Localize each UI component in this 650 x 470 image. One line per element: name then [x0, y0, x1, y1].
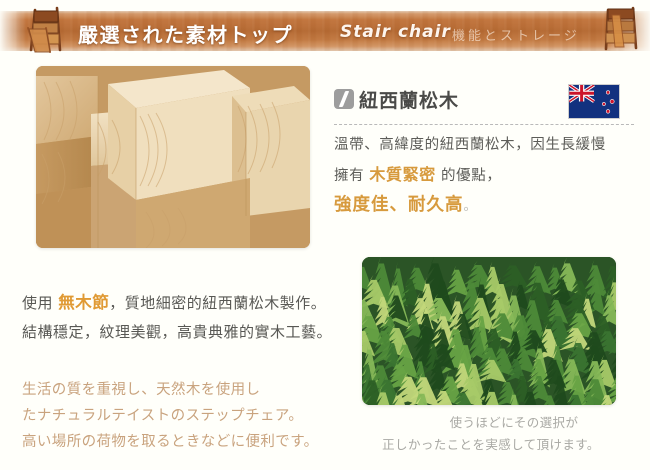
- material-desc-line3: 強度佳、耐久高。: [334, 191, 634, 221]
- material-heading: 紐西蘭松木: [359, 86, 459, 113]
- material-desc-line3-period: 。: [464, 199, 478, 214]
- japanese-desc-line2: たナチュラルテイストのステップチェア。: [22, 404, 352, 430]
- material-info-panel: 紐西蘭松木 溫帶、高緯度的紐西蘭松木，因生長緩慢 擁有 木質緊密 的優: [334, 84, 634, 220]
- wood-beams-illustration: [36, 66, 310, 248]
- product-desc-line1: 使用 無木節，質地細密的紐西蘭松木製作。: [22, 288, 342, 319]
- page-header-banner: 嚴選された素材トップ Stair chair 機能とストレージ: [0, 0, 650, 58]
- new-zealand-flag-icon: [568, 84, 620, 119]
- product-description-block: 使用 無木節，質地細密的紐西蘭松木製作。 結構穩定，紋理美觀，高貴典雅的實木工藝…: [22, 288, 342, 346]
- forest-caption: 使うほどにその選択が 正しかったことを実感して頂けます。: [360, 412, 622, 456]
- material-desc-line3-text: 強度佳、耐久高: [334, 195, 464, 215]
- header-band-left-fade: [0, 11, 26, 51]
- forest-trees-illustration: [362, 257, 616, 405]
- banner-subtitle-jp: 機能とストレージ: [452, 25, 580, 44]
- japanese-description-block: 生活の質を重視し、天然木を使用し たナチュラルテイストのステップチェア。 高い場…: [22, 378, 352, 455]
- banner-subtitle-en: Stair chair: [340, 22, 451, 42]
- japanese-desc-line1: 生活の質を重視し、天然木を使用し: [22, 378, 352, 404]
- step-ladder-chair-icon-left: [26, 2, 70, 54]
- pine-forest-photo: [362, 257, 616, 405]
- product-desc-line2: 結構穩定，紋理美觀，高貴典雅的實木工藝。: [22, 319, 342, 347]
- material-desc-line1: 溫帶、高緯度的紐西蘭松木，因生長緩慢: [334, 131, 634, 159]
- material-desc-line2: 擁有 木質緊密 的優點，: [334, 159, 634, 190]
- material-desc-line2-pre: 擁有: [334, 168, 369, 184]
- forest-caption-line2: 正しかったことを実感して頂けます。: [360, 434, 622, 456]
- product-desc-line1-pre: 使用: [22, 294, 58, 312]
- material-divider: [334, 124, 634, 125]
- slash-badge-icon: [334, 89, 354, 109]
- banner-title: 嚴選された素材トップ: [78, 19, 293, 48]
- material-desc-line2-post: 的優點，: [436, 168, 502, 184]
- wood-closeup-photo: [36, 66, 310, 248]
- step-ladder-chair-icon-right: [600, 1, 644, 53]
- product-desc-highlight: 無木節: [58, 293, 109, 312]
- product-desc-line1-post: ，質地細密的紐西蘭松木製作。: [109, 294, 326, 312]
- japanese-desc-line3: 高い場所の荷物を取るときなどに便利です。: [22, 430, 352, 456]
- forest-caption-line1: 使うほどにその選択が: [360, 412, 622, 434]
- material-desc-highlight: 木質緊密: [369, 165, 435, 184]
